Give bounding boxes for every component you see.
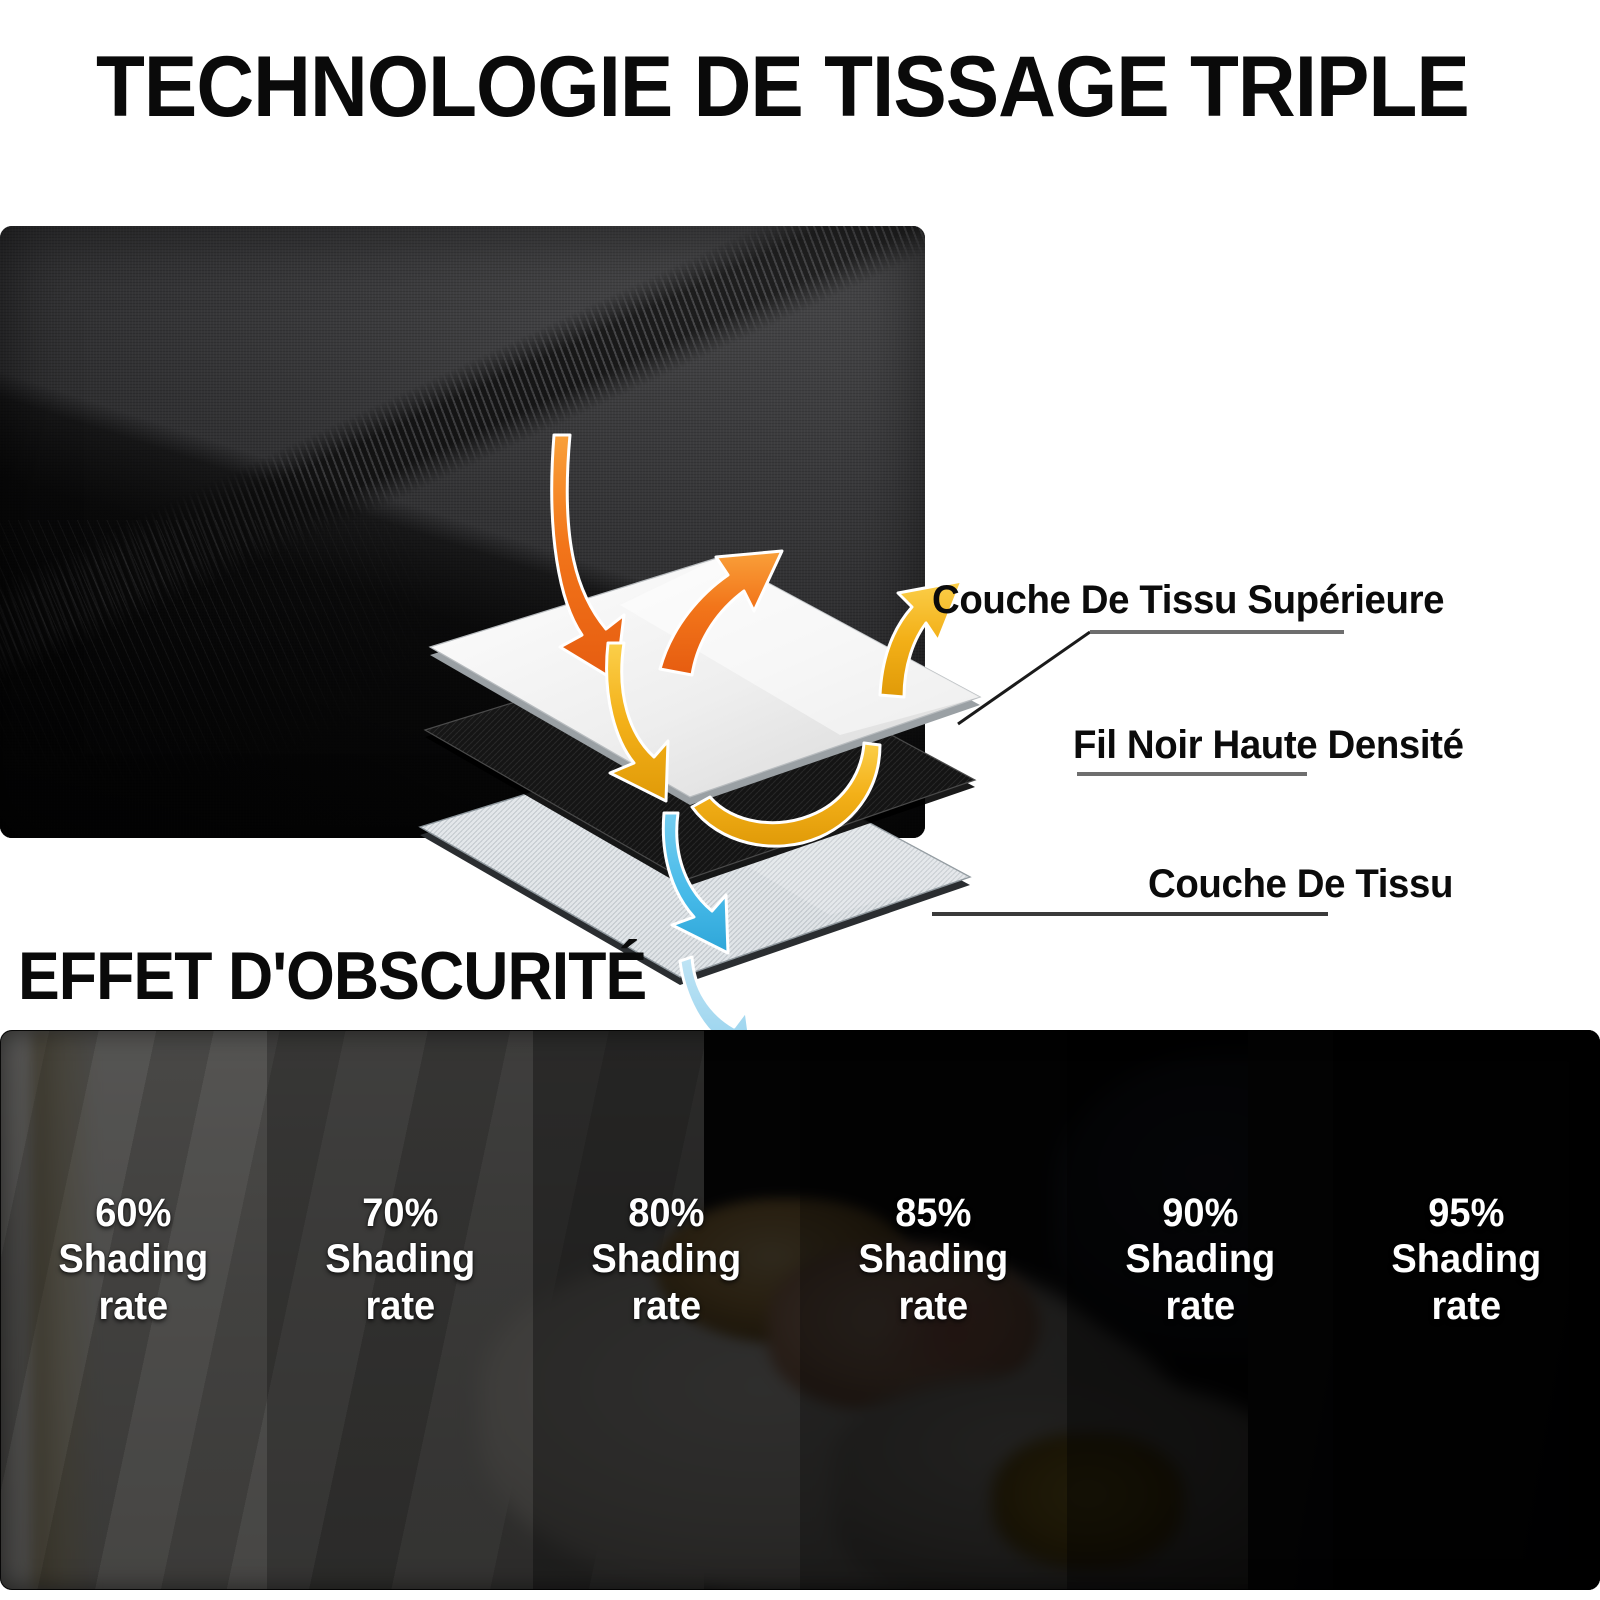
layer-label-top-fabric: Couche De Tissu Supérieure (932, 578, 1444, 623)
shading-caption-line1: Shading (1340, 1236, 1593, 1282)
shading-rate-comparison-panel: 60%Shadingrate70%Shadingrate80%Shadingra… (0, 1030, 1600, 1590)
shading-caption-line2: rate (273, 1283, 526, 1329)
shading-percent: 60% (7, 1190, 260, 1236)
shading-caption: 70%Shadingrate (273, 1190, 526, 1329)
page-title: TECHNOLOGIE DE TISSAGE TRIPLE (96, 44, 1469, 130)
shading-strip-70: 70%Shadingrate (267, 1030, 534, 1590)
shading-caption-line2: rate (1340, 1283, 1593, 1329)
shading-caption-line1: Shading (540, 1236, 793, 1282)
layer-label-bottom-fabric: Couche De Tissu (1148, 862, 1453, 907)
shading-strip-80: 80%Shadingrate (533, 1030, 800, 1590)
layer-label-black-yarn: Fil Noir Haute Densité (1073, 723, 1464, 768)
shading-percent: 95% (1340, 1190, 1593, 1236)
shading-caption: 85%Shadingrate (807, 1190, 1060, 1329)
shading-caption-line2: rate (807, 1283, 1060, 1329)
shading-strip-90: 90%Shadingrate (1067, 1030, 1334, 1590)
shading-caption: 60%Shadingrate (7, 1190, 260, 1329)
shading-caption-line1: Shading (7, 1236, 260, 1282)
shading-strip-60: 60%Shadingrate (0, 1030, 267, 1590)
shading-percent: 70% (273, 1190, 526, 1236)
shading-strip-95: 95%Shadingrate (1333, 1030, 1600, 1590)
shading-percent: 85% (807, 1190, 1060, 1236)
shading-strips: 60%Shadingrate70%Shadingrate80%Shadingra… (0, 1030, 1600, 1590)
shading-caption: 95%Shadingrate (1340, 1190, 1593, 1329)
shading-caption-line1: Shading (1073, 1236, 1326, 1282)
shading-caption: 80%Shadingrate (540, 1190, 793, 1329)
shading-caption-line1: Shading (273, 1236, 526, 1282)
shading-caption-line2: rate (540, 1283, 793, 1329)
shading-strip-85: 85%Shadingrate (800, 1030, 1067, 1590)
shading-caption-line2: rate (7, 1283, 260, 1329)
section-title-obscurity: EFFET D'OBSCURITÉ (18, 942, 646, 1010)
shading-percent: 90% (1073, 1190, 1326, 1236)
shading-caption: 90%Shadingrate (1073, 1190, 1326, 1329)
shading-caption-line2: rate (1073, 1283, 1326, 1329)
leader-line-top (940, 620, 1360, 730)
shading-caption-line1: Shading (807, 1236, 1060, 1282)
shading-percent: 80% (540, 1190, 793, 1236)
